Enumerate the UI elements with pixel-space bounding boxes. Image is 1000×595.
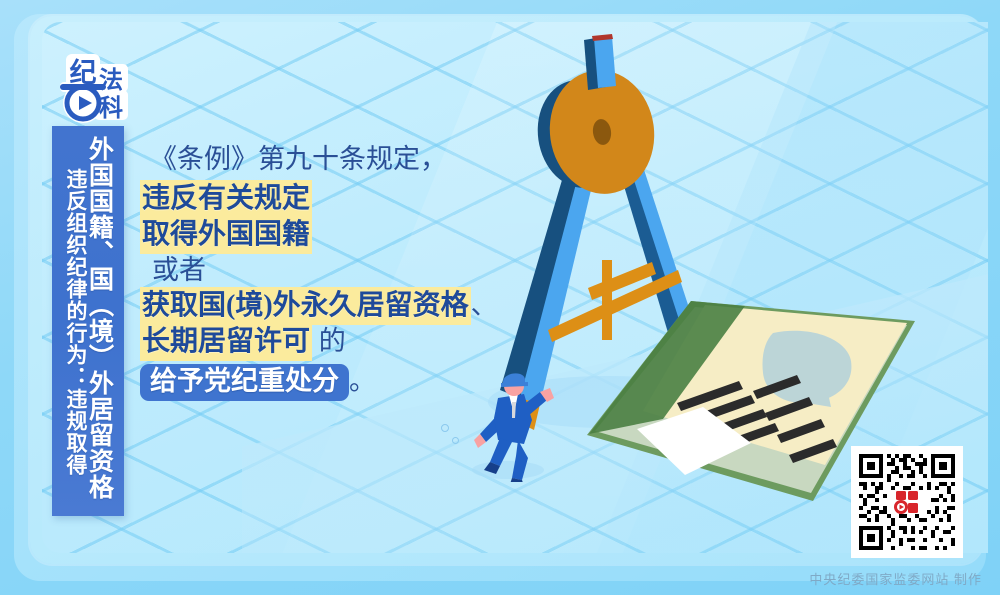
text-line-4-label: 或者 [152, 255, 206, 285]
text-line-7: 给予党纪重处分。 [140, 364, 560, 401]
decor-dot-tiny [452, 437, 459, 444]
text-line-1: 《条例》第九十条规定， [150, 146, 560, 173]
logo-char-ji: 纪 [70, 57, 97, 88]
banner-sub-title: 违反组织纪律的行为：违规取得 [65, 134, 86, 516]
text-line-1-label: 《条例》第九十条规定， [150, 144, 447, 174]
text-line-5-suffix: 、 [471, 290, 498, 320]
text-line-5: 获取国(境)外永久居留资格、 [140, 292, 560, 320]
decor-dot-small [441, 424, 449, 432]
text-line-7-pill: 给予党纪重处分 [140, 364, 349, 401]
text-line-5-highlight: 获取国(境)外永久居留资格 [140, 287, 471, 325]
text-line-2: 违反有关规定 [140, 185, 560, 213]
text-line-2-highlight: 违反有关规定 [140, 180, 312, 218]
text-line-6: 长期居留许可 的 [140, 328, 560, 356]
qr-code[interactable] [851, 446, 963, 558]
text-line-6-suffix: 的 [312, 326, 346, 356]
text-line-3-highlight: 取得外国国籍 [140, 216, 312, 254]
text-line-3: 取得外国国籍 [140, 221, 560, 249]
main-text-block: 《条例》第九十条规定， 违反有关规定 取得外国国籍 或者 获取国(境)外永久居留… [140, 146, 560, 409]
jifa-kepu-logo: 纪 法 科 [50, 50, 146, 134]
vertical-title-banner: 外国国籍、国（境）外居留资格 违反组织纪律的行为：违规取得 [52, 126, 124, 516]
credit-text: 中央纪委国家监委网站 制作 [0, 569, 982, 588]
text-line-7-suffix: 。 [349, 366, 376, 396]
logo-char-ke: 科 [99, 95, 123, 122]
text-line-4: 或者 [152, 257, 560, 284]
banner-main-title: 外国国籍、国（境）外居留资格 [86, 134, 112, 516]
poster-root: 外国国籍、国（境）外居留资格 违反组织纪律的行为：违规取得 纪 法 科 [0, 0, 1000, 595]
text-line-6-highlight: 长期居留许可 [140, 323, 312, 361]
